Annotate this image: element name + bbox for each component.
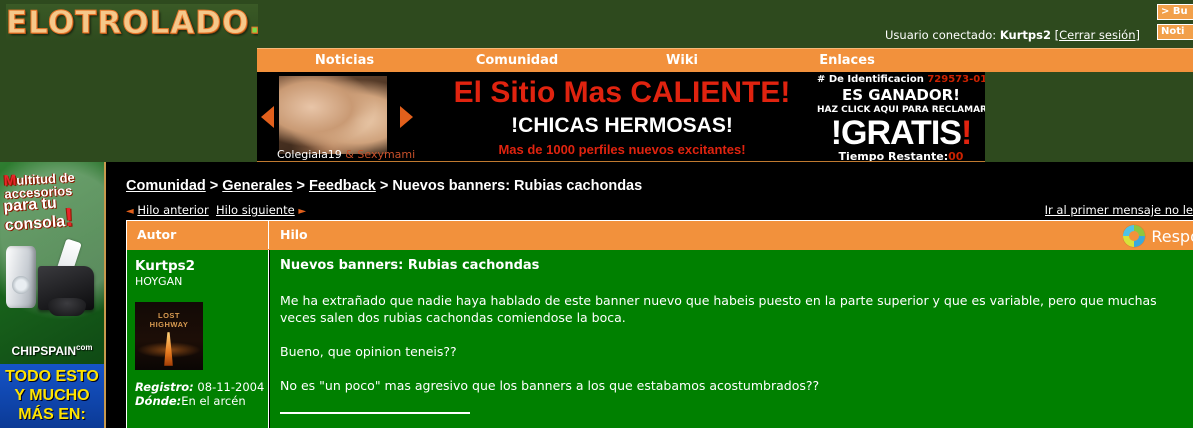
post-paragraph-1: Me ha extrañado que nadie haya hablado d…: [280, 292, 1190, 326]
registered-label: Registro:: [135, 380, 194, 394]
prev-thread-link[interactable]: Hilo anterior: [137, 203, 208, 217]
column-header-author: Autor: [127, 221, 269, 249]
post-title: Nuevos banners: Rubias cachondas: [280, 258, 1190, 273]
banner-id-value: 729573-01: [927, 74, 985, 85]
news-button[interactable]: Noti: [1157, 24, 1193, 40]
column-header-thread: Hilo: [270, 221, 1193, 249]
banner-id-label: # De Identificacion: [817, 74, 927, 85]
caption-name-2: Sexymami: [357, 148, 415, 161]
banner-subheadline: !CHICAS HERMOSAS!: [417, 114, 827, 138]
caption-amp: &: [342, 148, 358, 161]
post-paragraph-3: No es "un poco" mas agresivo que los ban…: [280, 377, 1190, 394]
left-skyscraper-ad[interactable]: Multitud de accesorios para tu consola! …: [0, 162, 104, 428]
avatar: LOST HIGHWAY: [135, 302, 203, 370]
post-row: Kurtps2 HOYGAN LOST HIGHWAY Registro: 08…: [126, 250, 1193, 428]
breadcrumb-current-thread: Nuevos banners: Rubias cachondas: [392, 178, 642, 194]
signature-divider: [280, 412, 470, 414]
banner-right-panel[interactable]: # De Identificacion 729573-01 ES GANADOR…: [817, 72, 985, 162]
gamepad-image: [48, 298, 86, 316]
chipspain-tld: com: [76, 343, 92, 352]
timer-value: 00: [948, 150, 963, 162]
post-paragraph-2: Bueno, que opinion teneis??: [280, 343, 1190, 360]
post-author-rank: HOYGAN: [135, 275, 268, 288]
nav-item-comunidad[interactable]: Comunidad: [432, 49, 602, 73]
breadcrumb-separator-3: >: [376, 178, 393, 194]
gratis-word: !GRATIS: [831, 114, 961, 152]
user-connected-label: Usuario conectado:: [885, 28, 996, 42]
banner-tagline: Mas de 1000 perfiles nuevos excitantes!: [417, 142, 827, 157]
search-button[interactable]: > Bu: [1157, 4, 1193, 20]
logo-dot: .: [249, 5, 258, 41]
post-author-column: Kurtps2 HOYGAN LOST HIGHWAY Registro: 08…: [127, 250, 269, 428]
skyscraper-line-4: consola: [4, 213, 66, 234]
skyscraper-line-3-4: para tu consola!: [3, 193, 101, 234]
skyscraper-bottom-line-1: TODO ESTO: [0, 367, 104, 386]
arrow-right-icon: [400, 106, 413, 128]
gratis-bang: !: [961, 114, 971, 152]
breadcrumb-item-feedback[interactable]: Feedback: [309, 178, 376, 194]
breadcrumb-separator-2: >: [292, 178, 309, 194]
banner-id-line: # De Identificacion 729573-01: [817, 74, 985, 85]
top-banner-ad[interactable]: Colegiala19 & Sexymami El Sitio Mas CALI…: [257, 72, 985, 162]
next-thread-arrow-icon: ►: [298, 206, 306, 217]
banner-gratis-text: !GRATIS!: [817, 114, 985, 153]
logout-link[interactable]: [Cerrar sesión]: [1055, 28, 1140, 42]
timer-label: Tiempo Restante:: [839, 150, 949, 162]
banner-headline: El Sitio Mas CALIENTE!: [417, 76, 827, 110]
prev-thread-arrow-icon: ◄: [126, 206, 134, 217]
post-author-meta: Registro: 08-11-2004 Dónde:En el arcén: [135, 380, 268, 408]
caption-name-1: Colegiala19: [277, 148, 342, 161]
breadcrumb-item-comunidad[interactable]: Comunidad: [126, 178, 206, 194]
breadcrumb: Comunidad > Generales > Feedback > Nuevo…: [126, 178, 642, 194]
site-logo[interactable]: ELOTROLADO..NET: [6, 4, 258, 42]
breadcrumb-item-generales[interactable]: Generales: [222, 178, 292, 194]
console-illustration: [2, 238, 102, 328]
post-author-name[interactable]: Kurtps2: [135, 258, 268, 274]
forum-panel: Comunidad > Generales > Feedback > Nuevo…: [104, 162, 1193, 428]
location-value: En el arcén: [181, 394, 245, 408]
banner-thumbnail-caption: Colegiala19 & Sexymami: [277, 148, 415, 161]
respond-button[interactable]: Respon: [1123, 223, 1193, 249]
registered-value: 08-11-2004: [194, 380, 265, 394]
banner-winner-text: ES GANADOR!: [817, 86, 985, 104]
post-table-header: Autor Hilo Respon: [126, 220, 1193, 250]
goto-first-unread-link[interactable]: Ir al primer mensaje no le: [1045, 203, 1193, 217]
banner-timer: Tiempo Restante:00: [817, 150, 985, 162]
respond-label: Respon: [1151, 227, 1193, 246]
author-location: Dónde:En el arcén: [135, 394, 268, 408]
xbox360-console-image: [6, 246, 36, 308]
nav-item-noticias[interactable]: Noticias: [257, 49, 432, 73]
thread-navigation: ◄ Hilo anterior Hilo siguiente ►: [126, 203, 306, 217]
avatar-title-text: LOST HIGHWAY: [139, 311, 199, 329]
skyscraper-bottom-line-2: Y MUCHO: [0, 386, 104, 405]
location-label: Dónde:: [135, 394, 181, 408]
banner-thumbnail-image: [279, 76, 387, 154]
nav-item-enlaces[interactable]: Enlaces: [762, 49, 932, 73]
username-label: Kurtps2: [1000, 28, 1051, 42]
skyscraper-top-panel: Multitud de accesorios para tu consola! …: [0, 162, 104, 364]
author-registered: Registro: 08-11-2004: [135, 380, 268, 394]
skyscraper-bang: !: [64, 202, 75, 233]
skyscraper-line-3: para tu: [3, 195, 57, 216]
site-header: ELOTROLADO..NET Usuario conectado: Kurtp…: [0, 0, 1193, 48]
breadcrumb-separator-1: >: [206, 178, 223, 194]
nav-item-wiki[interactable]: Wiki: [602, 49, 762, 73]
user-status-bar: Usuario conectado: Kurtps2 [Cerrar sesió…: [885, 28, 1140, 42]
chipspain-brand: CHIPSPAIN: [12, 344, 76, 358]
page-root: ELOTROLADO..NET Usuario conectado: Kurtp…: [0, 0, 1193, 428]
main-navigation: Noticias Comunidad Wiki Enlaces: [257, 48, 1193, 72]
post-content-column: Nuevos banners: Rubias cachondas Me ha e…: [270, 250, 1193, 428]
goto-first-unread: Ir al primer mensaje no le: [1045, 203, 1193, 217]
skyscraper-bottom-panel: TODO ESTO Y MUCHO MÁS EN:: [0, 364, 104, 428]
logo-text: ELOTROLADO: [6, 5, 249, 41]
arrow-left-icon: [261, 106, 274, 128]
skyscraper-bottom-line-3: MÁS EN:: [0, 405, 104, 424]
chipspain-logo: CHIPSPAINcom: [3, 343, 101, 358]
next-thread-link[interactable]: Hilo siguiente: [216, 203, 295, 217]
respond-disc-icon: [1123, 225, 1145, 247]
post-body: Me ha extrañado que nadie haya hablado d…: [280, 292, 1190, 394]
